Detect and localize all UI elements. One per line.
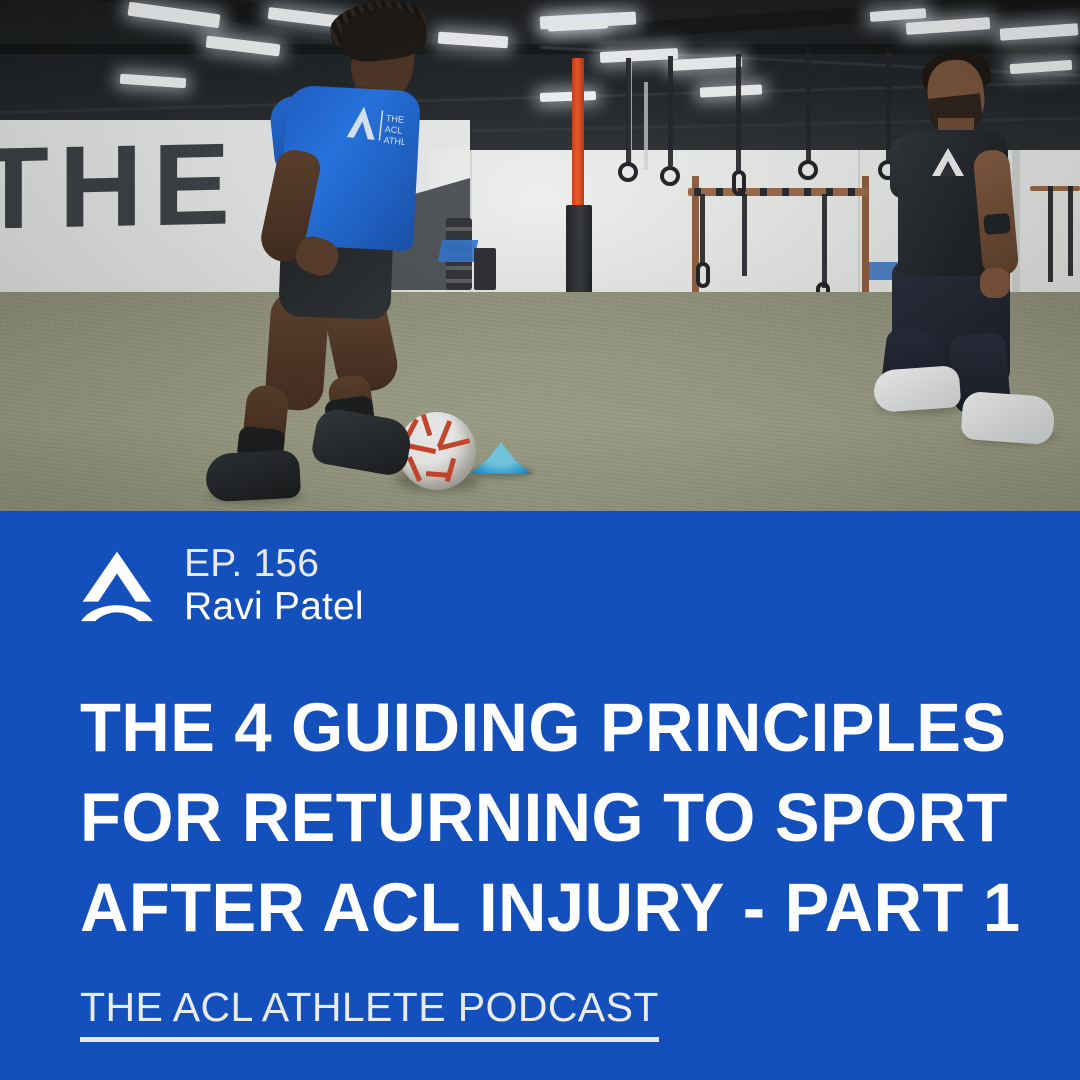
hero-photo: THE xyxy=(0,0,1080,511)
coach-hand xyxy=(980,268,1010,298)
blue-mat xyxy=(438,240,479,262)
strap-handle xyxy=(696,262,710,288)
title-line-3: AFTER ACL INJURY - PART 1 xyxy=(80,863,992,953)
suspension-strap xyxy=(1068,186,1073,276)
soccer-ball xyxy=(398,412,476,490)
ball-seam xyxy=(421,414,433,436)
episode-number: EP. 156 xyxy=(184,543,364,585)
coach-shoe-left xyxy=(873,365,962,413)
podcast-cover: THE xyxy=(0,0,1080,1080)
acl-athlete-chevron-logo-icon xyxy=(78,547,156,625)
suspension-strap xyxy=(736,54,741,174)
padded-post xyxy=(566,205,592,300)
strap-handle xyxy=(732,170,746,196)
orange-pole xyxy=(572,58,584,208)
show-footer: THE ACL ATHLETE PODCAST xyxy=(80,985,659,1042)
svg-text:ACL: ACL xyxy=(384,124,402,136)
suspension-strap xyxy=(700,194,705,266)
svg-text:ATHL: ATHL xyxy=(383,135,406,147)
gymnastics-ring xyxy=(798,160,818,180)
title-line-2: FOR RETURNING TO SPORT xyxy=(80,773,992,863)
info-panel: EP. 156 Ravi Patel THE 4 GUIDING PRINCIP… xyxy=(0,511,1080,1080)
show-name: THE ACL ATHLETE PODCAST xyxy=(80,985,659,1042)
ball-seam xyxy=(406,443,436,454)
ball-seam xyxy=(426,471,450,478)
suspension-strap xyxy=(1048,186,1053,282)
suspension-strap xyxy=(886,52,891,160)
wall-lettering: THE xyxy=(0,125,240,246)
equipment-bin xyxy=(474,248,496,290)
suspension-strap xyxy=(742,194,747,276)
athlete-shoe-left xyxy=(205,450,301,503)
coach-watch xyxy=(983,213,1011,235)
ball-seam xyxy=(407,456,422,482)
episode-title: THE 4 GUIDING PRINCIPLES FOR RETURNING T… xyxy=(80,683,1020,953)
title-line-1: THE 4 GUIDING PRINCIPLES xyxy=(80,683,992,773)
svg-text:THE: THE xyxy=(385,113,404,125)
brand-row: EP. 156 Ravi Patel xyxy=(78,543,364,628)
suspension-strap xyxy=(822,194,827,288)
suspension-strap xyxy=(806,52,811,162)
gymnastics-ring xyxy=(660,166,680,186)
brand-meta: EP. 156 Ravi Patel xyxy=(184,543,364,628)
guest-name: Ravi Patel xyxy=(184,585,364,629)
athlete-shirt-logo: THE ACL ATHL xyxy=(344,101,408,153)
suspension-strap xyxy=(668,56,673,166)
suspension-strap xyxy=(644,82,648,170)
coach-shoe-right xyxy=(960,391,1055,445)
ball-seam xyxy=(445,458,456,482)
gymnastics-ring xyxy=(618,162,638,182)
wall-seam xyxy=(858,150,860,300)
suspension-strap xyxy=(626,58,631,164)
coach-shirt-logo xyxy=(928,146,968,180)
rig-slots xyxy=(694,188,864,196)
